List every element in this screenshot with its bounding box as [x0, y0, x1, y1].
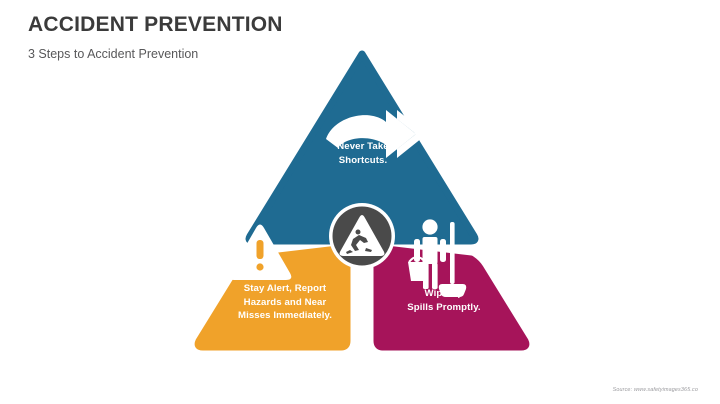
page-title: ACCIDENT PREVENTION [28, 13, 448, 36]
triangle-graphic [178, 44, 548, 369]
accident-prevention-triangle-diagram: Never Take Shortcuts. Stay Alert, Report… [178, 44, 548, 369]
source-credit: Source: www.safetyimages365.co [613, 387, 698, 393]
center-hazard-badge[interactable] [329, 203, 395, 269]
